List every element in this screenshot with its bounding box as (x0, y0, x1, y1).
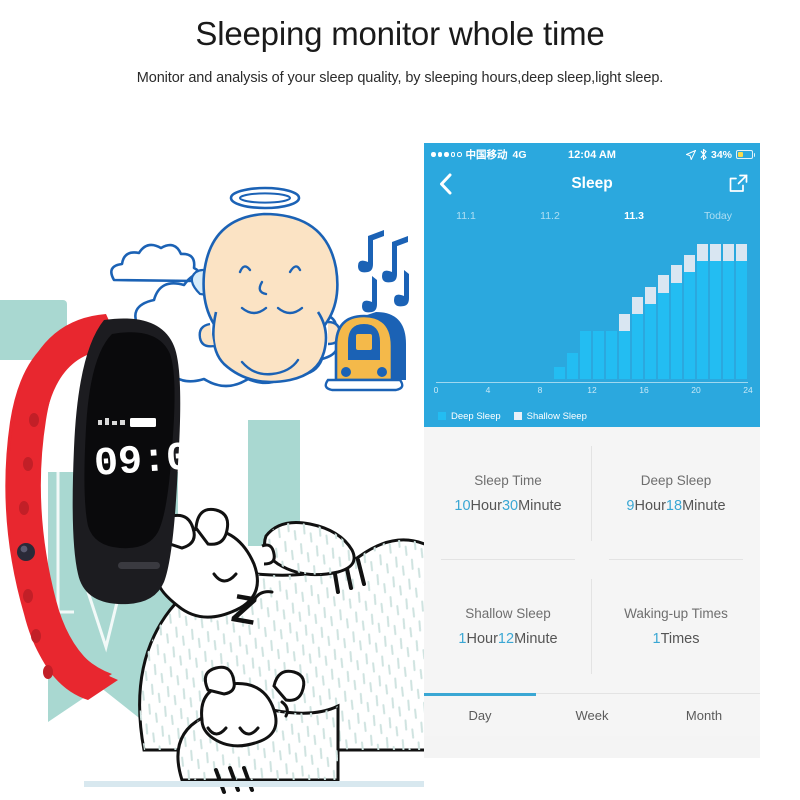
battery-icon (736, 150, 753, 159)
chart-bar (736, 244, 748, 379)
chart-bar (697, 244, 709, 379)
chart-bar (619, 314, 631, 379)
stat-unit-1: Times (661, 631, 700, 647)
chart-bar-segment-deep (671, 283, 683, 379)
location-arrow-icon (686, 150, 696, 160)
page-title: Sleeping monitor whole time (0, 14, 800, 54)
stat-value: 1Hour12Minute (458, 631, 557, 647)
stat-unit-2: Minute (518, 498, 562, 514)
chart-bar (554, 367, 566, 379)
chart-bar (645, 287, 657, 379)
stat-num-1: 1 (652, 631, 660, 647)
stat-label: Waking-up Times (624, 606, 728, 621)
chart-bar-segment-shallow (645, 287, 657, 304)
chart-bar (684, 255, 696, 379)
chart-bar (580, 331, 592, 379)
stat-value: 9Hour18Minute (626, 498, 725, 514)
chart-bar-segment-deep (736, 261, 748, 379)
chart-x-tick-label: 16 (639, 385, 648, 395)
fitness-band-device: 09:04 (0, 300, 190, 700)
stat-unit-2: Minute (514, 631, 558, 647)
chart-bar-segment-deep (723, 261, 735, 379)
stat-card-shallow-sleep: Shallow Sleep 1Hour12Minute (424, 560, 592, 693)
radio-illustration (326, 312, 406, 390)
illustration-stage: Z 09:04 (0, 120, 424, 800)
chart-bar-segment-deep (684, 272, 696, 379)
stat-unit-2: Minute (682, 498, 726, 514)
stat-unit-1: Hour (471, 498, 502, 514)
battery-percent-label: 34% (711, 149, 732, 161)
date-tab-1[interactable]: 11.2 (508, 210, 592, 222)
chart-bar-segment-shallow (697, 244, 709, 261)
chart-x-tick-label: 8 (538, 385, 543, 395)
chart-bar-segment-shallow (658, 275, 670, 292)
tab-day[interactable]: Day (424, 708, 536, 723)
date-tab-3[interactable]: Today (676, 210, 760, 222)
date-tab-bar: 11.1 11.2 11.3 Today (424, 202, 760, 229)
chart-bar-segment-deep (554, 367, 566, 379)
chart-bar-segment-shallow (684, 255, 696, 272)
app-nav-bar: Sleep (424, 166, 760, 202)
tab-week[interactable]: Week (536, 708, 648, 723)
chart-bar-segment-shallow (710, 244, 722, 261)
stat-label: Shallow Sleep (465, 606, 551, 621)
page-header: Sleeping monitor whole time Monitor and … (0, 0, 800, 88)
chart-x-tick-label: 24 (743, 385, 752, 395)
chart-bar-segment-shallow (671, 265, 683, 282)
phone-app-screenshot: 中国移动 4G 12:04 AM 34% Sleep 11.1 11.2 11 (424, 143, 760, 758)
stat-unit-1: Hour (466, 631, 497, 647)
stat-label: Sleep Time (474, 473, 542, 488)
date-tab-0[interactable]: 11.1 (424, 210, 508, 222)
chart-x-tick-label: 12 (587, 385, 596, 395)
chart-bar-segment-deep (593, 331, 605, 379)
status-bar: 中国移动 4G 12:04 AM 34% (424, 143, 760, 166)
stat-value: 10Hour30Minute (454, 498, 561, 514)
chart-bar-segment-deep (658, 293, 670, 379)
chevron-left-icon[interactable] (436, 172, 456, 196)
chart-x-tick-label: 0 (434, 385, 439, 395)
tab-month[interactable]: Month (648, 708, 760, 723)
chart-bar-segment-deep (619, 331, 631, 379)
stat-num-2: 18 (666, 498, 682, 514)
chart-bar (593, 331, 605, 379)
legend-swatch-deep-sleep (438, 412, 446, 420)
chart-legend: Deep Sleep Shallow Sleep (424, 405, 760, 427)
chart-bar-segment-deep (567, 353, 579, 379)
chart-bar-segment-deep (645, 304, 657, 379)
stat-card-sleep-time: Sleep Time 10Hour30Minute (424, 427, 592, 560)
stat-card-deep-sleep: Deep Sleep 9Hour18Minute (592, 427, 760, 560)
carrier-label: 中国移动 (466, 147, 508, 162)
stat-num-2: 30 (502, 498, 518, 514)
chart-bar (710, 244, 722, 379)
chart-bar-segment-deep (710, 261, 722, 379)
legend-swatch-shallow-sleep (514, 412, 522, 420)
chart-bar-segment-deep (632, 314, 644, 379)
chart-bar-segment-deep (580, 331, 592, 379)
stat-value: 1Times (652, 631, 699, 647)
stat-num-2: 12 (498, 631, 514, 647)
stat-label: Deep Sleep (641, 473, 712, 488)
share-external-icon[interactable] (729, 174, 748, 193)
page-subtitle: Monitor and analysis of your sleep quali… (0, 68, 800, 88)
svg-text:09:04: 09:04 (93, 435, 190, 488)
chart-x-axis-ticks: 04812162024 (436, 385, 748, 397)
chart-bar-segment-deep (697, 261, 709, 379)
active-tab-indicator (424, 693, 536, 696)
signal-dots-icon (431, 152, 462, 157)
chart-bar-segment-deep (606, 331, 618, 379)
sleep-stats-grid: Sleep Time 10Hour30Minute Deep Sleep 9Ho… (424, 427, 760, 693)
chart-bar-segment-shallow (632, 297, 644, 314)
chart-bar (567, 353, 579, 379)
stat-card-waking-up-times: Waking-up Times 1Times (592, 560, 760, 693)
chart-x-tick-label: 20 (691, 385, 700, 395)
chart-bar-segment-shallow (736, 244, 748, 261)
chart-bar (632, 297, 644, 379)
chart-bar (658, 275, 670, 379)
bluetooth-icon (700, 149, 707, 160)
chart-bar (723, 244, 735, 379)
date-tab-2[interactable]: 11.3 (592, 210, 676, 222)
chart-plot-area (436, 235, 748, 379)
chart-bar-segment-shallow (723, 244, 735, 261)
chart-bar (606, 331, 618, 379)
chart-bars-group (436, 235, 748, 379)
legend-label-deep-sleep: Deep Sleep (451, 411, 501, 422)
stat-unit-1: Hour (634, 498, 665, 514)
legend-label-shallow-sleep: Shallow Sleep (527, 411, 587, 422)
chart-x-tick-label: 4 (486, 385, 491, 395)
period-tab-bar: Day Week Month (424, 693, 760, 736)
chart-bar (671, 265, 683, 379)
sleep-bar-chart: 04812162024 (424, 229, 760, 405)
chart-x-axis-line (436, 382, 748, 384)
screen-title: Sleep (571, 175, 612, 193)
music-notes-icon (358, 230, 409, 312)
chart-bar-segment-shallow (619, 314, 631, 331)
network-type-label: 4G (513, 149, 527, 161)
stat-num-1: 10 (454, 498, 470, 514)
